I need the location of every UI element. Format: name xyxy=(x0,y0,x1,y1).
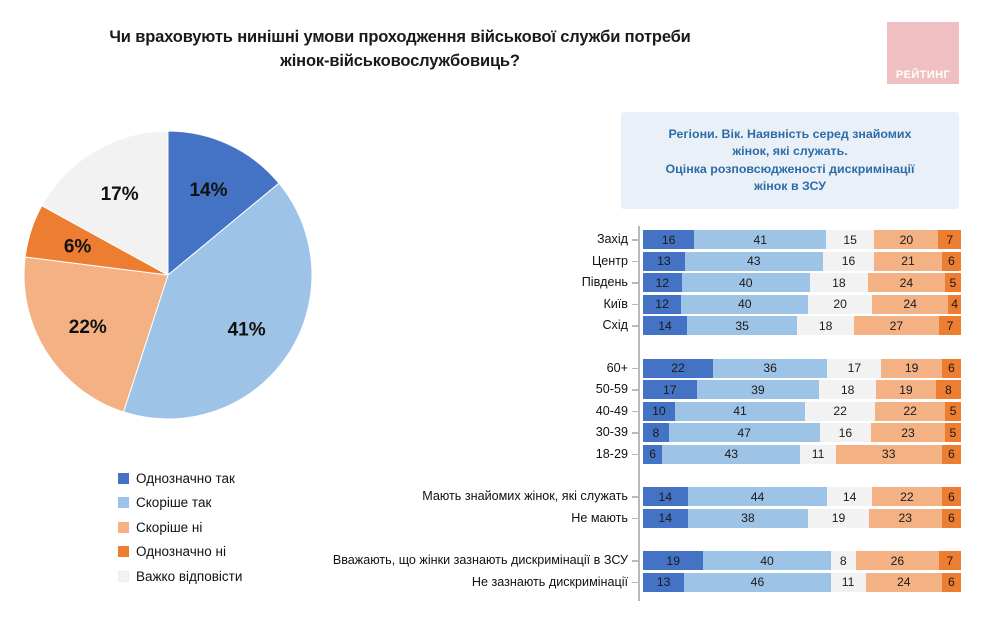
axis-tick xyxy=(632,325,638,327)
bar-track: 124020244 xyxy=(643,295,961,314)
bar-segment: 20 xyxy=(808,295,872,314)
bar-segment: 13 xyxy=(643,252,685,271)
panel-header-line-1: Регіони. Вік. Наявність серед знайомих xyxy=(669,126,912,143)
bar-row-label: Центр xyxy=(280,252,628,271)
legend-swatch-icon xyxy=(118,522,129,533)
bar-row-label: 40-49 xyxy=(280,402,628,421)
bar-segment: 14 xyxy=(827,487,872,506)
pie-chart: 14%41%22%6%17% xyxy=(20,120,320,430)
bar-segment: 17 xyxy=(827,359,881,378)
bar-segment: 19 xyxy=(643,551,703,570)
bar-segment: 23 xyxy=(871,423,945,442)
pie-slice-label-4: 17% xyxy=(101,184,139,205)
bar-segment: 24 xyxy=(868,273,945,292)
legend-label: Однозначно ні xyxy=(136,544,226,559)
axis-tick xyxy=(632,560,638,562)
legend-swatch-icon xyxy=(118,546,129,557)
bar-segment: 6 xyxy=(942,359,961,378)
axis-tick xyxy=(632,454,638,456)
legend-swatch-icon xyxy=(118,571,129,582)
bar-row: 60+223617196 xyxy=(280,359,970,378)
bar-segment: 12 xyxy=(643,295,681,314)
legend-swatch-icon xyxy=(118,497,129,508)
bar-segment: 35 xyxy=(687,316,797,335)
bar-segment: 11 xyxy=(831,573,866,592)
stacked-bar-chart: Захід164115207Центр134316216Південь12401… xyxy=(280,226,970,601)
bar-row: Мають знайомих жінок, які служать1444142… xyxy=(280,487,970,506)
infographic-page: Чи враховують нинішні умови проходження … xyxy=(0,0,981,636)
bar-row-label: Захід xyxy=(280,230,628,249)
bar-segment: 4 xyxy=(948,295,961,314)
bar-segment: 13 xyxy=(643,573,684,592)
bar-segment: 6 xyxy=(643,445,662,464)
bar-track: 223617196 xyxy=(643,359,961,378)
axis-tick xyxy=(632,518,638,520)
bar-track: 134316216 xyxy=(643,252,961,271)
bar-row: 30-3984716235 xyxy=(280,423,970,442)
bar-segment: 33 xyxy=(836,445,942,464)
pie-chart-svg: 14%41%22%6%17% xyxy=(20,120,320,430)
axis-tick xyxy=(632,368,638,370)
legend-label: Скоріше так xyxy=(136,495,211,510)
page-title: Чи враховують нинішні умови проходження … xyxy=(20,26,780,74)
bar-row-label: Не зазнають дискримінації xyxy=(280,573,628,592)
bar-segment: 43 xyxy=(685,252,823,271)
panel-header-line-3: Оцінка розповсюдженості дискримінації xyxy=(666,161,915,178)
legend-swatch-icon xyxy=(118,473,129,484)
axis-tick xyxy=(632,239,638,241)
bar-segment: 22 xyxy=(805,402,875,421)
bar-row: 18-2964311336 xyxy=(280,445,970,464)
bar-row: 40-49104122225 xyxy=(280,402,970,421)
legend-label: Важко відповісти xyxy=(136,569,242,584)
bar-row-label: Не мають xyxy=(280,509,628,528)
bar-segment: 43 xyxy=(662,445,800,464)
bar-segment: 24 xyxy=(872,295,948,314)
bar-segment: 14 xyxy=(643,487,688,506)
panel-header-line-4: жінок в ЗСУ xyxy=(754,178,826,195)
bar-segment: 24 xyxy=(866,573,942,592)
bar-segment: 22 xyxy=(872,487,942,506)
rating-logo: РЕЙТИНГ xyxy=(887,22,959,84)
bar-segment: 21 xyxy=(874,252,941,271)
bar-segment: 41 xyxy=(675,402,805,421)
pie-slices xyxy=(24,131,312,419)
bar-row-label: Вважають, що жінки зазнають дискримінаці… xyxy=(280,551,628,570)
bar-row-label: Київ xyxy=(280,295,628,314)
bar-row: Захід164115207 xyxy=(280,230,970,249)
bar-segment: 18 xyxy=(810,273,868,292)
bar-row-label: 50-59 xyxy=(280,380,628,399)
pie-slice-label-1: 41% xyxy=(228,319,266,340)
bar-segment: 15 xyxy=(826,230,874,249)
bar-segment: 12 xyxy=(643,273,682,292)
bar-segment: 27 xyxy=(854,316,939,335)
axis-tick xyxy=(632,304,638,306)
bar-row-label: Південь xyxy=(280,273,628,292)
bar-track: 144414226 xyxy=(643,487,961,506)
bar-row: Київ124020244 xyxy=(280,295,970,314)
bar-segment: 5 xyxy=(945,423,961,442)
bar-segment: 36 xyxy=(713,359,827,378)
bar-segment: 18 xyxy=(819,380,876,399)
bar-segment: 6 xyxy=(942,509,961,528)
axis-tick xyxy=(632,389,638,391)
axis-tick xyxy=(632,282,638,284)
bar-track: 64311336 xyxy=(643,445,961,464)
bar-segment: 44 xyxy=(688,487,828,506)
bar-segment: 6 xyxy=(942,445,961,464)
bar-segment: 22 xyxy=(643,359,713,378)
axis-tick xyxy=(632,261,638,263)
page-title-line-1: Чи враховують нинішні умови проходження … xyxy=(20,26,780,50)
bar-track: 143518277 xyxy=(643,316,961,335)
legend-label: Скоріше ні xyxy=(136,520,202,535)
bar-row-label: Схід xyxy=(280,316,628,335)
bar-segment: 46 xyxy=(684,573,830,592)
axis-tick xyxy=(632,582,638,584)
bar-segment: 19 xyxy=(881,359,941,378)
bar-track: 84716235 xyxy=(643,423,961,442)
bar-row-label: 60+ xyxy=(280,359,628,378)
bar-track: 143819236 xyxy=(643,509,961,528)
bar-segment: 6 xyxy=(942,252,961,271)
bar-segment: 18 xyxy=(797,316,854,335)
pie-slice-label-2: 22% xyxy=(69,317,107,338)
axis-tick xyxy=(632,432,638,434)
bar-segment: 23 xyxy=(869,509,942,528)
bar-track: 19408267 xyxy=(643,551,961,570)
bar-track: 173918198 xyxy=(643,380,961,399)
bar-segment: 38 xyxy=(688,509,809,528)
bar-row-label: 30-39 xyxy=(280,423,628,442)
legend-label: Однозначно так xyxy=(136,471,235,486)
bar-segment: 14 xyxy=(643,316,687,335)
bar-segment: 26 xyxy=(856,551,939,570)
axis-tick xyxy=(632,496,638,498)
bar-segment: 40 xyxy=(681,295,808,314)
bar-row-label: 18-29 xyxy=(280,445,628,464)
axis-tick xyxy=(632,411,638,413)
bar-segment: 40 xyxy=(703,551,830,570)
bar-row: Південь124018245 xyxy=(280,273,970,292)
bar-segment: 16 xyxy=(823,252,874,271)
bar-track: 164115207 xyxy=(643,230,961,249)
bar-segment: 14 xyxy=(643,509,688,528)
bar-segment: 19 xyxy=(808,509,868,528)
bar-row: Вважають, що жінки зазнають дискримінаці… xyxy=(280,551,970,570)
bar-segment: 16 xyxy=(643,230,694,249)
bar-segment: 47 xyxy=(669,423,820,442)
bar-track: 134611246 xyxy=(643,573,961,592)
bar-segment: 41 xyxy=(694,230,826,249)
page-title-line-2: жінок-військовослужбовиць? xyxy=(20,50,780,74)
panel-header-box: Регіони. Вік. Наявність серед знайомихжі… xyxy=(621,112,959,209)
bar-segment: 11 xyxy=(800,445,835,464)
bar-segment: 10 xyxy=(643,402,675,421)
bar-segment: 6 xyxy=(942,487,961,506)
bar-segment: 16 xyxy=(820,423,871,442)
bar-segment: 6 xyxy=(942,573,961,592)
bar-segment: 7 xyxy=(938,230,960,249)
bar-segment: 19 xyxy=(876,380,936,399)
pie-slice-label-3: 6% xyxy=(64,237,92,258)
bar-segment: 40 xyxy=(682,273,810,292)
bar-segment: 7 xyxy=(939,551,961,570)
bar-row-label: Мають знайомих жінок, які служать xyxy=(280,487,628,506)
bar-segment: 17 xyxy=(643,380,697,399)
bar-segment: 22 xyxy=(875,402,945,421)
bar-row: 50-59173918198 xyxy=(280,380,970,399)
bar-segment: 7 xyxy=(939,316,961,335)
pie-slice-label-0: 14% xyxy=(189,180,227,201)
panel-header-line-2: жінок, які служать. xyxy=(732,143,847,160)
bar-row: Схід143518277 xyxy=(280,316,970,335)
bar-track: 104122225 xyxy=(643,402,961,421)
rating-logo-text: РЕЙТИНГ xyxy=(896,69,950,81)
bar-segment: 8 xyxy=(643,423,669,442)
bar-segment: 20 xyxy=(874,230,938,249)
bar-track: 124018245 xyxy=(643,273,961,292)
bar-segment: 5 xyxy=(945,402,961,421)
bar-segment: 8 xyxy=(936,380,961,399)
bar-row: Не мають143819236 xyxy=(280,509,970,528)
bar-segment: 8 xyxy=(831,551,856,570)
bar-row: Не зазнають дискримінації134611246 xyxy=(280,573,970,592)
bar-segment: 39 xyxy=(697,380,820,399)
bar-segment: 5 xyxy=(945,273,961,292)
bar-row: Центр134316216 xyxy=(280,252,970,271)
